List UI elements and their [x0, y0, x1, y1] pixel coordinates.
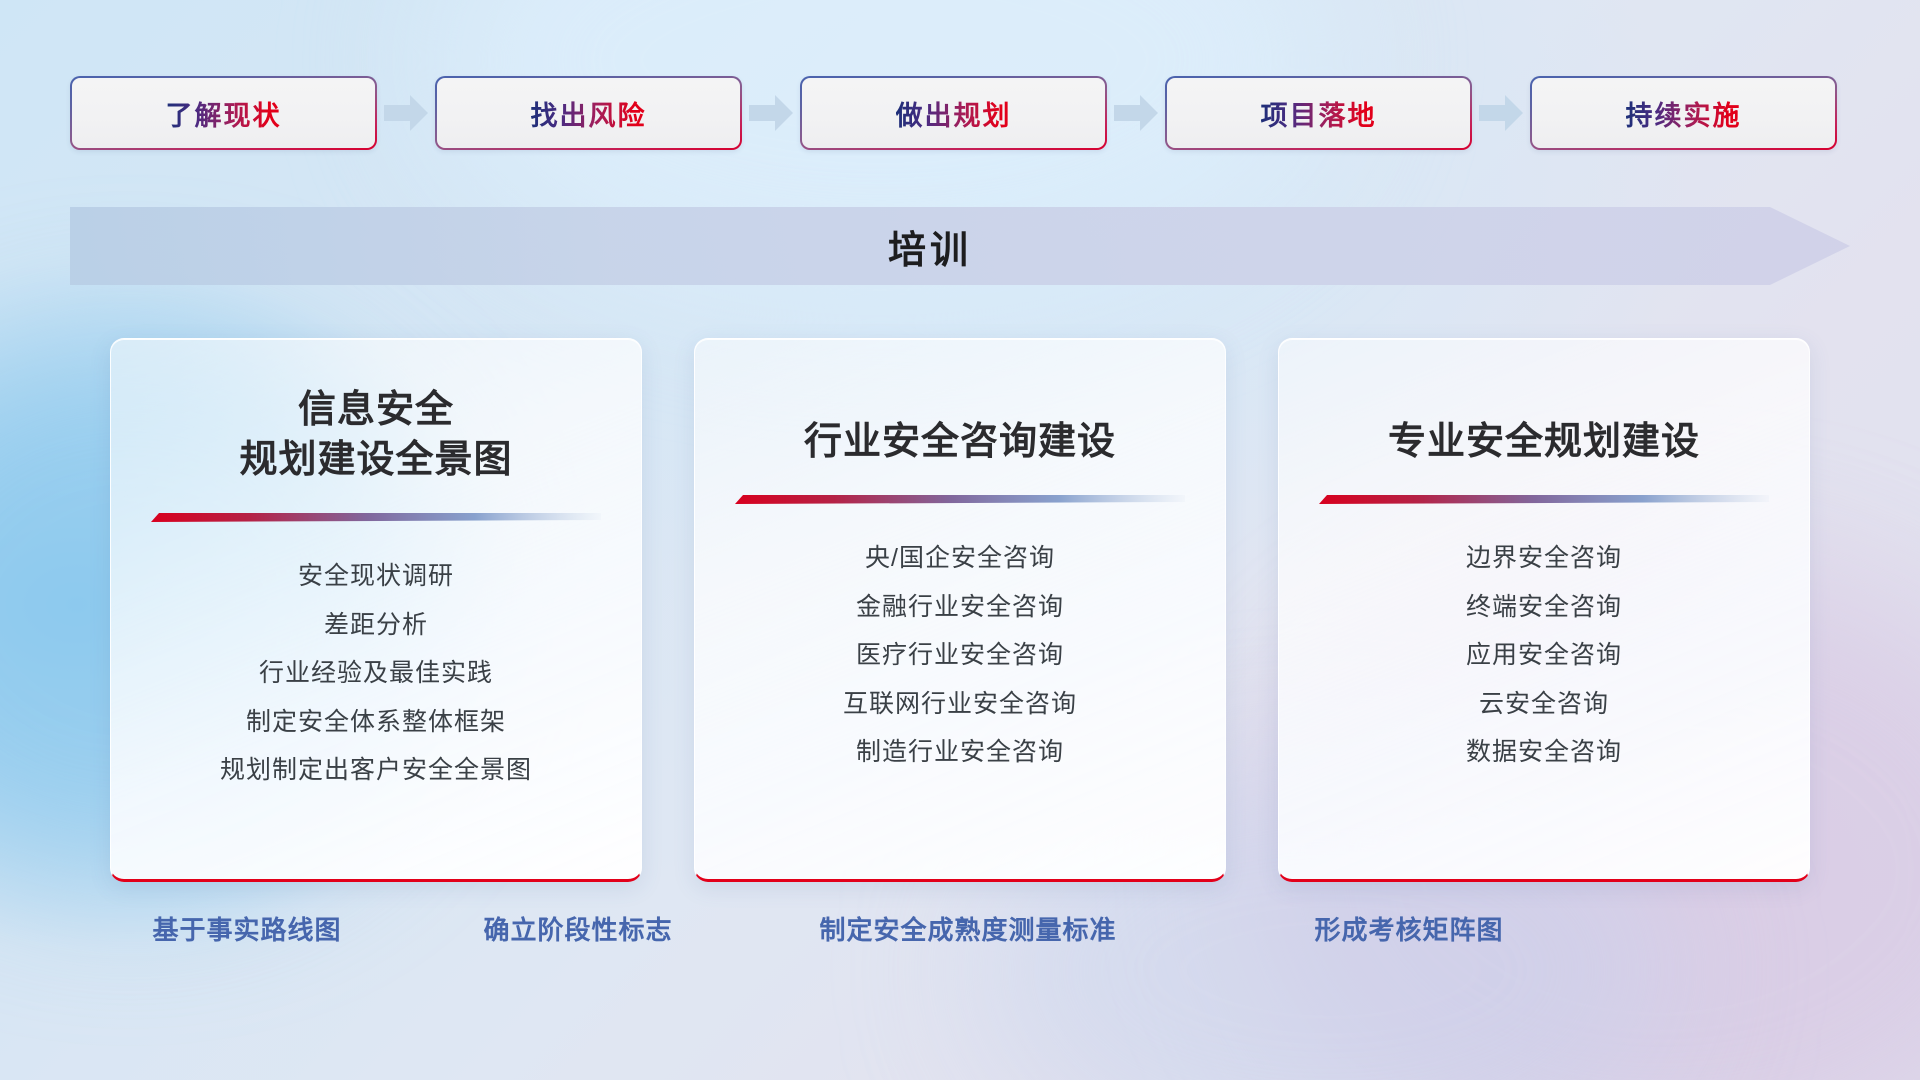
caption-4: 形成考核矩阵图 — [1314, 910, 1503, 947]
caption-3: 制定安全成熟度测量标准 — [819, 910, 1116, 947]
card-industry-consulting[interactable]: 行业安全咨询建设 央/国企安全咨询 — [694, 338, 1226, 882]
card-title-2: 行业安全咨询建设 — [695, 417, 1225, 467]
list-item: 终端安全咨询 — [1466, 587, 1622, 628]
list-item: 金融行业安全咨询 — [856, 587, 1064, 628]
card-divider-2 — [735, 495, 1185, 504]
caption-2: 确立阶段性标志 — [483, 910, 672, 947]
slide-canvas: 了解现状 找出风险 做出规划 项目落地 持续实施 — [0, 0, 1920, 1080]
list-item: 数据安全咨询 — [1466, 732, 1622, 773]
step-label-1: 了解现状 — [166, 94, 282, 133]
card-divider-3 — [1319, 495, 1769, 504]
card-divider-1 — [151, 513, 601, 522]
list-item: 规划制定出客户安全全景图 — [220, 750, 532, 791]
list-item: 应用安全咨询 — [1466, 635, 1622, 676]
card-panorama[interactable]: 信息安全 规划建设全景图 安全现状调研 — [110, 338, 642, 882]
list-item: 安全现状调研 — [298, 556, 454, 597]
step-button-3[interactable]: 做出规划 — [800, 76, 1107, 150]
caption-1: 基于事实路线图 — [152, 910, 341, 947]
step-button-2[interactable]: 找出风险 — [435, 76, 742, 150]
card-row: 信息安全 规划建设全景图 安全现状调研 — [110, 338, 1810, 878]
step-button-1[interactable]: 了解现状 — [70, 76, 377, 150]
list-item: 互联网行业安全咨询 — [843, 684, 1077, 725]
list-item: 云安全咨询 — [1479, 684, 1609, 725]
card-professional-planning[interactable]: 专业安全规划建设 边界安全咨询 — [1278, 338, 1810, 882]
training-banner: 培训 — [70, 207, 1850, 285]
right-arrow-icon-1 — [384, 95, 428, 131]
step-label-3: 做出规划 — [896, 94, 1012, 133]
right-arrow-icon-2 — [749, 95, 793, 131]
process-step-flow: 了解现状 找出风险 做出规划 项目落地 持续实施 — [70, 78, 1850, 148]
list-item: 医疗行业安全咨询 — [856, 635, 1064, 676]
card-title-1: 信息安全 规划建设全景图 — [111, 385, 641, 485]
card-title-3: 专业安全规划建设 — [1279, 417, 1809, 467]
list-item: 制定安全体系整体框架 — [246, 702, 506, 743]
right-arrow-icon-3 — [1114, 95, 1158, 131]
list-item: 央/国企安全咨询 — [865, 538, 1055, 579]
list-item: 制造行业安全咨询 — [856, 732, 1064, 773]
step-label-5: 持续实施 — [1626, 94, 1742, 133]
banner-title: 培训 — [70, 207, 1790, 285]
card-list-2: 央/国企安全咨询 金融行业安全咨询 医疗行业安全咨询 互联网行业安全咨询 制造行… — [695, 538, 1225, 773]
list-item: 差距分析 — [324, 605, 428, 646]
step-label-2: 找出风险 — [531, 94, 647, 133]
right-arrow-icon-4 — [1479, 95, 1523, 131]
step-button-4[interactable]: 项目落地 — [1165, 76, 1472, 150]
card-list-1: 安全现状调研 差距分析 行业经验及最佳实践 制定安全体系整体框架 规划制定出客户… — [111, 556, 641, 791]
list-item: 行业经验及最佳实践 — [259, 653, 493, 694]
card-list-3: 边界安全咨询 终端安全咨询 应用安全咨询 云安全咨询 数据安全咨询 — [1279, 538, 1809, 773]
list-item: 边界安全咨询 — [1466, 538, 1622, 579]
step-label-4: 项目落地 — [1261, 94, 1377, 133]
step-button-5[interactable]: 持续实施 — [1530, 76, 1837, 150]
caption-row: 基于事实路线图 确立阶段性标志 制定安全成熟度测量标准 形成考核矩阵图 — [0, 910, 1920, 960]
